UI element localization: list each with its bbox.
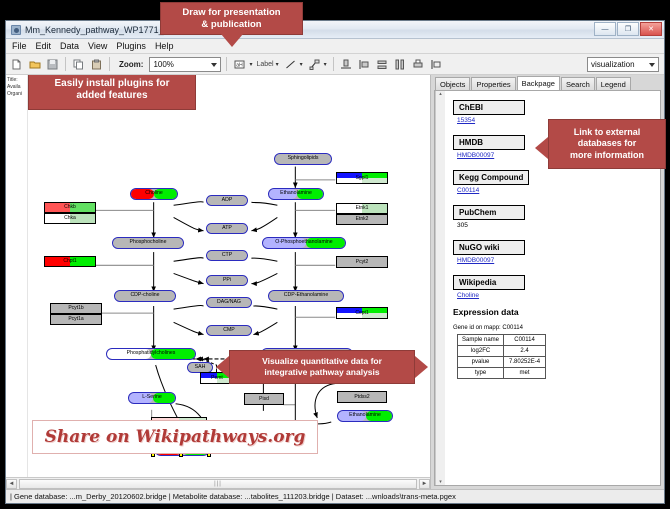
scroll-left-arrow[interactable]: ◄ — [6, 479, 17, 489]
menu-item-view[interactable]: View — [88, 41, 107, 51]
table-row: Sample name C00114 — [458, 335, 546, 346]
gene-label: Chpt1 — [63, 259, 76, 264]
title-bar: Mm_Kennedy_pathway_WP1771_45176.gpml — ❐… — [6, 21, 664, 39]
pathway-gene-chpt1[interactable]: Chpt1 — [44, 256, 96, 267]
tool-bar: Zoom: 100% aH ▾ Label ▾ ▾ ▾ — [6, 54, 664, 75]
align-left-icon[interactable] — [357, 57, 372, 72]
callout-draw-line1: Draw for presentation — [182, 7, 280, 19]
share-banner: Share on Wikipathways.org — [32, 420, 318, 454]
pathway-node-sphingolipids[interactable]: Sphingolipids — [274, 153, 332, 165]
exp-value-3: met — [504, 368, 546, 379]
app-icon — [11, 25, 21, 35]
callout-draw: Draw for presentation & publication — [160, 2, 303, 35]
menu-item-data[interactable]: Data — [60, 41, 79, 51]
callout-draw-arrow — [221, 34, 243, 47]
backpage-vertical-scrollbar[interactable]: ▴ ▾ — [435, 91, 445, 485]
scroll-up-arrow[interactable]: ▴ — [439, 91, 442, 97]
node-label: CDP-Ethanolamine — [284, 293, 328, 298]
gene-label: Cept1 — [355, 311, 368, 316]
callout-visualize: Visualize quantitative data for integrat… — [229, 350, 415, 384]
toolbar-separator-2 — [109, 57, 110, 71]
node-label: Sphingolipids — [288, 156, 319, 161]
pathway-info-column: Title: Availa Organi — [6, 75, 28, 477]
label-button[interactable]: Label — [256, 61, 273, 68]
node-label: Choline — [145, 191, 163, 196]
gene-label: Etnk2 — [356, 217, 369, 222]
node-label: ATP — [222, 226, 232, 231]
pathway-gene-chkb[interactable]: Chkb — [44, 202, 96, 213]
window-controls[interactable]: — ❐ ✕ — [594, 22, 662, 36]
svg-text:aH: aH — [237, 62, 244, 68]
scroll-thumb[interactable]: ||| — [19, 479, 417, 489]
pathway-gene-etnk1[interactable]: Etnk1 — [336, 203, 388, 214]
chebi-header: ChEBI — [453, 100, 525, 115]
pathway-node-l-serine-left[interactable]: L-Serine — [128, 392, 176, 404]
node-label: CMP — [223, 328, 235, 333]
menu-item-file[interactable]: File — [12, 41, 27, 51]
pathway-gene-pisd[interactable]: Pisd — [244, 393, 284, 405]
exp-key-3: type — [458, 368, 504, 379]
callout-visualize-arrow-left — [216, 356, 229, 378]
callout-plugins-line2: added features — [54, 90, 169, 103]
pathway-node-dag-nag[interactable]: DAG/NAG — [206, 297, 252, 308]
copy-icon[interactable] — [71, 57, 86, 72]
save-file-icon[interactable] — [45, 57, 60, 72]
interaction-dropdown-icon[interactable]: ▾ — [324, 61, 327, 68]
pathway-canvas[interactable]: Title: Availa Organi — [6, 75, 430, 477]
toolbar-separator — [65, 57, 66, 71]
expression-table: Sample name C00114 log2FC 2.4 pvalue 7.8… — [457, 334, 546, 379]
toolbar-separator-4 — [333, 57, 334, 71]
callout-link: Link to external databases for more info… — [548, 119, 666, 169]
gene-label: Ptdss2 — [354, 395, 369, 400]
callout-visualize-arrow-right — [415, 356, 428, 378]
exp-key-2: pvalue — [458, 357, 504, 368]
hmdb-header: HMDB — [453, 135, 525, 150]
toolbar-separator-3 — [226, 57, 227, 71]
chevron-down-icon[interactable] — [211, 63, 217, 67]
exp-key-1: log2FC — [458, 346, 504, 357]
exp-value-2: 7.80252E-4 — [504, 357, 546, 368]
menu-item-edit[interactable]: Edit — [36, 41, 52, 51]
gene-id-line: Gene id on mapp: C00114 — [453, 325, 660, 331]
minimize-button[interactable]: — — [594, 22, 616, 36]
callout-link-arrow — [535, 137, 548, 159]
menu-item-help[interactable]: Help — [155, 41, 174, 51]
node-label: PPi — [223, 278, 231, 283]
pathway-gene-chka[interactable]: Chka — [44, 213, 96, 224]
visualization-combo[interactable]: visualization — [587, 57, 659, 72]
gene-label: Pcyt2 — [356, 260, 369, 265]
info-organism-label: Organi — [7, 91, 26, 98]
pathway-gene-ptdss2[interactable]: Ptdss2 — [337, 391, 387, 403]
pathway-node-cdp-choline[interactable]: CDP-choline — [114, 290, 176, 302]
node-label: Phosphocholine — [130, 240, 167, 245]
datanode-icon[interactable]: aH — [232, 57, 247, 72]
open-file-icon[interactable] — [27, 57, 42, 72]
pathway-gene-cept1[interactable]: Cept1 — [336, 307, 388, 319]
pathway-node-cdp-ethanolamine[interactable]: CDP-Ethanolamine — [268, 290, 344, 302]
wikipedia-link[interactable]: Choline — [457, 292, 660, 299]
callout-visualize-line2: integrative pathway analysis — [262, 367, 382, 378]
label-dropdown-icon[interactable]: ▾ — [276, 61, 279, 68]
close-button[interactable]: ✕ — [640, 22, 662, 36]
callout-link-line1: Link to external — [570, 127, 644, 138]
zoom-combo[interactable]: 100% — [149, 57, 221, 72]
zoom-value: 100% — [153, 60, 173, 69]
datanode-dropdown-icon[interactable]: ▾ — [249, 61, 252, 68]
gene-label: Pcyt1b — [68, 306, 83, 311]
pathway-node-ctp[interactable]: CTP — [206, 250, 248, 261]
pathway-node-atp[interactable]: ATP — [206, 223, 248, 234]
node-label: Ethanolamine — [280, 191, 312, 196]
zoom-label: Zoom: — [119, 60, 143, 69]
node-label: CTP — [222, 253, 232, 258]
pathway-node-phosphocholine[interactable]: Phosphocholine — [112, 237, 184, 249]
node-label: O-Phosphoethanolamine — [275, 240, 332, 245]
kegg-link[interactable]: C00114 — [457, 187, 660, 194]
gene-label: Chka — [64, 216, 76, 221]
callout-plugins-line1: Easily install plugins for — [54, 78, 169, 91]
pathway-gene-pcyt1a[interactable]: Pcyt1a — [50, 314, 102, 325]
menu-bar: File Edit Data View Plugins Help — [6, 39, 664, 54]
callout-link-line2: databases for — [570, 138, 644, 149]
callout-plugins: Easily install plugins for added feature… — [28, 75, 196, 110]
node-label: SAH — [195, 365, 206, 370]
line-tool-icon[interactable] — [283, 57, 298, 72]
gene-label: Pcyt1a — [68, 317, 83, 322]
side-panel-tabstrip: Objects Properties Backpage Search Legen… — [431, 75, 664, 90]
line-dropdown-icon[interactable]: ▾ — [300, 61, 303, 68]
pathway-node-adp[interactable]: ADP — [206, 195, 248, 206]
tab-search[interactable]: Search — [561, 77, 595, 90]
print-icon[interactable] — [411, 57, 426, 72]
scroll-down-arrow[interactable]: ▾ — [439, 479, 442, 485]
exp-value-0: C00114 — [504, 335, 546, 346]
maximize-button[interactable]: ❐ — [617, 22, 639, 36]
pathway-gene-etnk2[interactable]: Etnk2 — [336, 214, 388, 225]
tab-backpage[interactable]: Backpage — [517, 76, 560, 90]
status-bar-text: | Gene database: ...m_Derby_20120602.bri… — [10, 492, 456, 501]
common-width-icon[interactable] — [393, 57, 408, 72]
wikipedia-header: Wikipedia — [453, 275, 525, 290]
info-available-label: Availa — [7, 84, 26, 91]
kegg-header: Kegg Compound — [453, 170, 529, 185]
node-label: Ethanolamine — [349, 413, 381, 418]
node-label: CDP-choline — [130, 293, 159, 298]
interaction-tool-icon[interactable] — [307, 57, 322, 72]
node-label: ADP — [222, 198, 233, 203]
new-file-icon[interactable] — [9, 57, 24, 72]
table-row: type met — [458, 368, 546, 379]
scroll-right-arrow[interactable]: ► — [419, 479, 430, 489]
gene-label: Etnk1 — [356, 206, 369, 211]
gene-label: Chkb — [64, 205, 76, 210]
pathway-gene-pcyt2[interactable]: Pcyt2 — [336, 256, 388, 268]
pathway-node-ethanolamine-top[interactable]: Ethanolamine — [268, 188, 324, 200]
chevron-down-icon-2[interactable] — [649, 63, 655, 67]
menu-item-plugins[interactable]: Plugins — [116, 41, 146, 51]
exp-key-0: Sample name — [458, 335, 504, 346]
node-label: L-Serine — [142, 395, 162, 400]
pathway-node-phosphatidylcholines[interactable]: Phosphatidylcholines — [106, 348, 196, 360]
node-label: DAG/NAG — [217, 300, 241, 305]
align-bottom-icon[interactable] — [339, 57, 354, 72]
status-bar: | Gene database: ...m_Derby_20120602.bri… — [6, 489, 664, 503]
nugo-link[interactable]: HMDB00097 — [457, 257, 660, 264]
tab-objects[interactable]: Objects — [435, 77, 470, 90]
pubchem-header: PubChem — [453, 205, 525, 220]
tab-legend[interactable]: Legend — [596, 77, 631, 90]
gpml-editor-window: Mm_Kennedy_pathway_WP1771_45176.gpml — ❐… — [5, 20, 665, 504]
gene-label: Sgpl1 — [356, 176, 369, 181]
nugo-header: NuGO wiki — [453, 240, 525, 255]
visualization-value: visualization — [591, 60, 635, 69]
bring-front-icon[interactable] — [429, 57, 444, 72]
info-title-label: Title: — [7, 77, 26, 84]
pubchem-value: 305 — [457, 222, 660, 229]
pathway-gene-sgpl1[interactable]: Sgpl1 — [336, 172, 388, 184]
expression-data-title: Expression data — [453, 307, 660, 317]
pathway-node-ethanolamine-right[interactable]: Ethanolamine — [337, 410, 393, 422]
callout-draw-line2: & publication — [182, 19, 280, 31]
node-label: Phosphatidylcholines — [127, 351, 176, 356]
pathway-node-cmp[interactable]: CMP — [206, 325, 252, 336]
share-banner-text: Share on Wikipathways.org — [45, 427, 306, 447]
callout-visualize-line1: Visualize quantitative data for — [262, 356, 382, 367]
stack-vertical-icon[interactable] — [375, 57, 390, 72]
tab-properties[interactable]: Properties — [471, 77, 515, 90]
paste-icon[interactable] — [89, 57, 104, 72]
pathway-gene-pcyt1b[interactable]: Pcyt1b — [50, 303, 102, 314]
gene-label: Pisd — [259, 397, 269, 402]
exp-value-1: 2.4 — [504, 346, 546, 357]
table-row: log2FC 2.4 — [458, 346, 546, 357]
pathway-node-choline-top[interactable]: Choline — [130, 188, 178, 200]
callout-link-line3: more information — [570, 150, 644, 161]
pathway-canvas-panel: Title: Availa Organi — [6, 75, 431, 489]
pathway-node-ppi[interactable]: PPi — [206, 275, 248, 286]
canvas-horizontal-scrollbar[interactable]: ◄ ||| ► — [6, 477, 430, 489]
table-row: pvalue 7.80252E-4 — [458, 357, 546, 368]
pathway-node-o-phosphoethanolamine[interactable]: O-Phosphoethanolamine — [262, 237, 346, 249]
